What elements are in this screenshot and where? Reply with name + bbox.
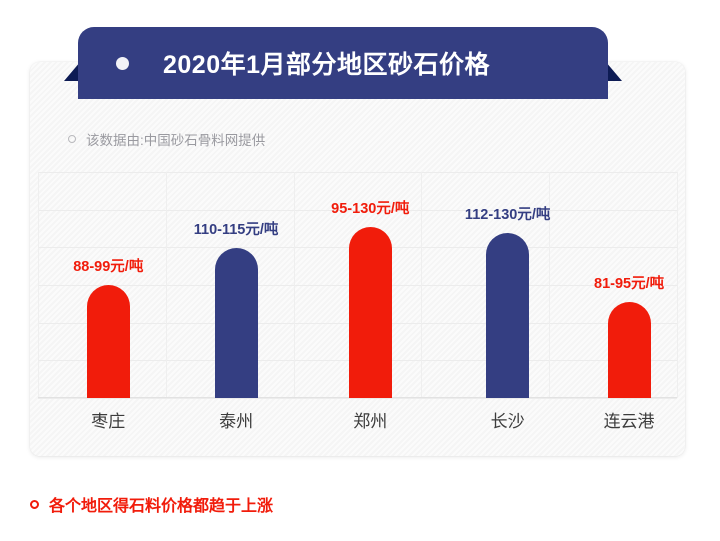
bar-value-label: 88-99元/吨 [73,255,143,276]
bar-value-label: 81-95元/吨 [594,272,664,293]
bar-value-label: 95-130元/吨 [331,197,409,218]
data-source-note: 该数据由:中国砂石骨料网提供 [68,129,265,149]
category-separator [38,172,39,398]
category-separator [421,172,422,398]
x-axis-category-labels: 枣庄泰州郑州长沙连云港 [38,407,677,447]
title-ribbon: 2020年1月部分地区砂石价格 [78,27,608,99]
bar[interactable] [608,302,651,398]
circle-outline-icon [68,135,76,143]
conclusion-label: 各个地区得石料价格都趋于上涨 [49,492,273,516]
plot-area: 88-99元/吨110-115元/吨95-130元/吨112-130元/吨81-… [38,172,677,398]
category-label: 郑州 [353,407,387,432]
chart-title: 2020年1月部分地区砂石价格 [163,45,490,81]
bar[interactable] [486,233,529,398]
category-label: 连云港 [604,407,655,432]
bar[interactable] [349,227,392,398]
title-banner: 2020年1月部分地区砂石价格 [78,27,608,99]
bar-value-label: 110-115元/吨 [194,218,279,239]
data-source-label: 该数据由:中国砂石骨料网提供 [86,129,265,149]
category-separator [677,172,678,398]
circle-outline-icon [30,500,39,509]
category-label: 枣庄 [91,407,125,432]
bar[interactable] [87,285,130,398]
dot-icon [116,57,129,70]
chart-card: 该数据由:中国砂石骨料网提供 88-99元/吨110-115元/吨95-130元… [30,62,685,456]
screenshot-root: 该数据由:中国砂石骨料网提供 88-99元/吨110-115元/吨95-130元… [0,0,720,541]
gridline [38,398,677,399]
conclusion-note: 各个地区得石料价格都趋于上涨 [30,492,273,516]
category-separator [166,172,167,398]
bar[interactable] [215,248,258,398]
category-label: 长沙 [491,407,525,432]
category-separator [294,172,295,398]
category-label: 泰州 [219,407,253,432]
gridline [38,172,677,173]
bar-value-label: 112-130元/吨 [465,203,550,224]
